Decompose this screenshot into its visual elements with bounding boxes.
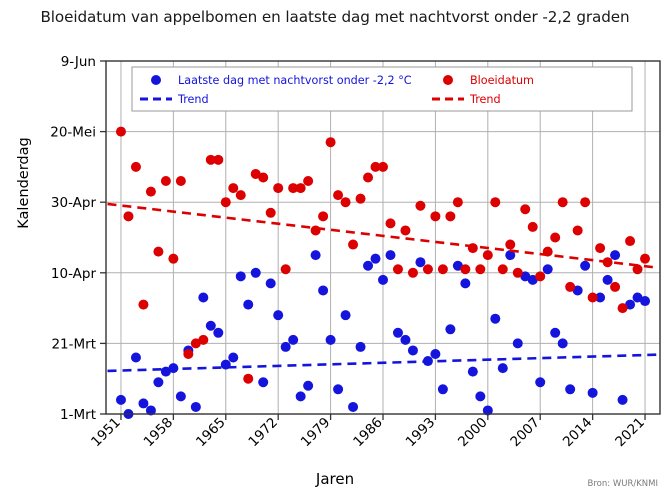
data-point [550, 233, 560, 243]
data-point [453, 197, 463, 207]
data-point [483, 250, 493, 260]
data-point [520, 204, 530, 214]
data-point [378, 275, 388, 285]
data-point [408, 268, 418, 278]
data-point [303, 176, 313, 186]
data-point [513, 338, 523, 348]
y-tick-label: 30-Apr [51, 195, 97, 211]
data-point [311, 225, 321, 235]
data-point [393, 264, 403, 274]
data-point [423, 264, 433, 274]
x-tick-label: 2014 [560, 415, 596, 451]
data-point [393, 328, 403, 338]
data-point [123, 211, 133, 221]
data-point [318, 285, 328, 295]
data-point [415, 257, 425, 267]
data-point [625, 236, 635, 246]
data-point [475, 264, 485, 274]
data-point [618, 303, 628, 313]
data-point [243, 300, 253, 310]
data-point [348, 240, 358, 250]
data-point [580, 261, 590, 271]
data-point [400, 335, 410, 345]
data-point [400, 225, 410, 235]
data-point [153, 377, 163, 387]
data-point [146, 187, 156, 197]
data-point [595, 243, 605, 253]
grid-layer [106, 61, 660, 414]
data-point [618, 395, 628, 405]
data-point [363, 172, 373, 182]
data-point [266, 208, 276, 218]
data-point [296, 183, 306, 193]
data-point [565, 384, 575, 394]
data-point [161, 176, 171, 186]
data-point [385, 218, 395, 228]
x-tick-label: 1965 [193, 415, 229, 451]
trend-line [107, 204, 656, 268]
chart-container: Bloeidatum van appelbomen en laatste dag… [0, 0, 670, 500]
data-point [228, 183, 238, 193]
data-point [490, 197, 500, 207]
data-point [356, 342, 366, 352]
data-point [430, 211, 440, 221]
data-point [535, 377, 545, 387]
data-point [296, 391, 306, 401]
data-point [438, 384, 448, 394]
data-point [131, 162, 141, 172]
data-point [198, 293, 208, 303]
legend-label: Bloeidatum [470, 74, 534, 87]
data-point [176, 176, 186, 186]
data-point [445, 324, 455, 334]
data-point [415, 201, 425, 211]
data-point [505, 240, 515, 250]
data-point [183, 349, 193, 359]
data-point [198, 335, 208, 345]
y-tick-label: 20-Mei [50, 125, 96, 141]
data-point [341, 197, 351, 207]
x-tick-label: 1986 [350, 415, 386, 451]
data-point [610, 282, 620, 292]
data-point [460, 264, 470, 274]
data-point [333, 384, 343, 394]
data-point [513, 268, 523, 278]
legend-label: Trend [177, 93, 209, 106]
data-point [318, 211, 328, 221]
legend-label: Trend [469, 93, 501, 106]
data-point [535, 271, 545, 281]
data-point [438, 264, 448, 274]
data-point [460, 278, 470, 288]
data-point [445, 211, 455, 221]
legend-marker-dot [151, 75, 161, 85]
x-tick-label: 2021 [612, 415, 648, 451]
data-point [288, 335, 298, 345]
data-point [266, 278, 276, 288]
x-tick-label: 1958 [141, 415, 177, 451]
data-point [116, 395, 126, 405]
data-point [378, 162, 388, 172]
data-point [168, 254, 178, 264]
data-point [580, 197, 590, 207]
data-point [558, 338, 568, 348]
data-point [475, 391, 485, 401]
data-point [213, 328, 223, 338]
data-point [243, 374, 253, 384]
data-point [498, 264, 508, 274]
data-point [303, 381, 313, 391]
data-point [385, 250, 395, 260]
data-point [258, 377, 268, 387]
x-tick-label: 2007 [507, 415, 543, 451]
data-point [588, 388, 598, 398]
x-tick-label: 2000 [455, 415, 491, 451]
data-point [206, 321, 216, 331]
data-point [565, 282, 575, 292]
data-point [348, 402, 358, 412]
data-point [341, 310, 351, 320]
x-tick-label: 1993 [403, 415, 439, 451]
data-point [356, 194, 366, 204]
data-point [311, 250, 321, 260]
data-point [408, 345, 418, 355]
data-point [640, 254, 650, 264]
data-point [371, 254, 381, 264]
data-point [326, 335, 336, 345]
data-point [543, 264, 553, 274]
legend: Laatste dag met nachtvorst onder -2,2 °C… [132, 67, 632, 111]
data-point [191, 402, 201, 412]
data-point [528, 222, 538, 232]
y-tick-label: 1-Mrt [60, 407, 96, 423]
data-point [221, 197, 231, 207]
plot-svg: 1951195819651972197919861993200020072014… [0, 0, 670, 500]
data-point [550, 328, 560, 338]
data-point [468, 367, 478, 377]
data-point [558, 197, 568, 207]
x-tick-label: 1979 [298, 415, 334, 451]
data-point [258, 172, 268, 182]
data-point [281, 342, 291, 352]
data-point [430, 349, 440, 359]
data-point [573, 225, 583, 235]
data-point [363, 261, 373, 271]
data-point [116, 127, 126, 137]
data-point [236, 271, 246, 281]
data-point [236, 190, 246, 200]
y-tick-label: 10-Apr [51, 266, 97, 282]
data-point [138, 398, 148, 408]
legend-label: Laatste dag met nachtvorst onder -2,2 °C [178, 74, 412, 87]
data-point [176, 391, 186, 401]
data-point [273, 183, 283, 193]
y-tick-label: 21-Mrt [51, 336, 96, 352]
data-point [640, 296, 650, 306]
data-point [610, 250, 620, 260]
data-point [228, 353, 238, 363]
data-point [251, 268, 261, 278]
data-point [603, 275, 613, 285]
x-tick-label: 1972 [245, 415, 281, 451]
data-point [588, 293, 598, 303]
data-point [273, 310, 283, 320]
data-point [490, 314, 500, 324]
y-tick-label: 9-Jun [61, 54, 96, 70]
data-point [333, 190, 343, 200]
data-point [131, 353, 141, 363]
data-point [213, 155, 223, 165]
data-point [138, 300, 148, 310]
data-point [498, 363, 508, 373]
legend-marker-dot [443, 75, 453, 85]
data-point [153, 247, 163, 257]
tick-layer: 1951195819651972197919861993200020072014… [50, 54, 648, 450]
data-point [281, 264, 291, 274]
data-point [326, 137, 336, 147]
